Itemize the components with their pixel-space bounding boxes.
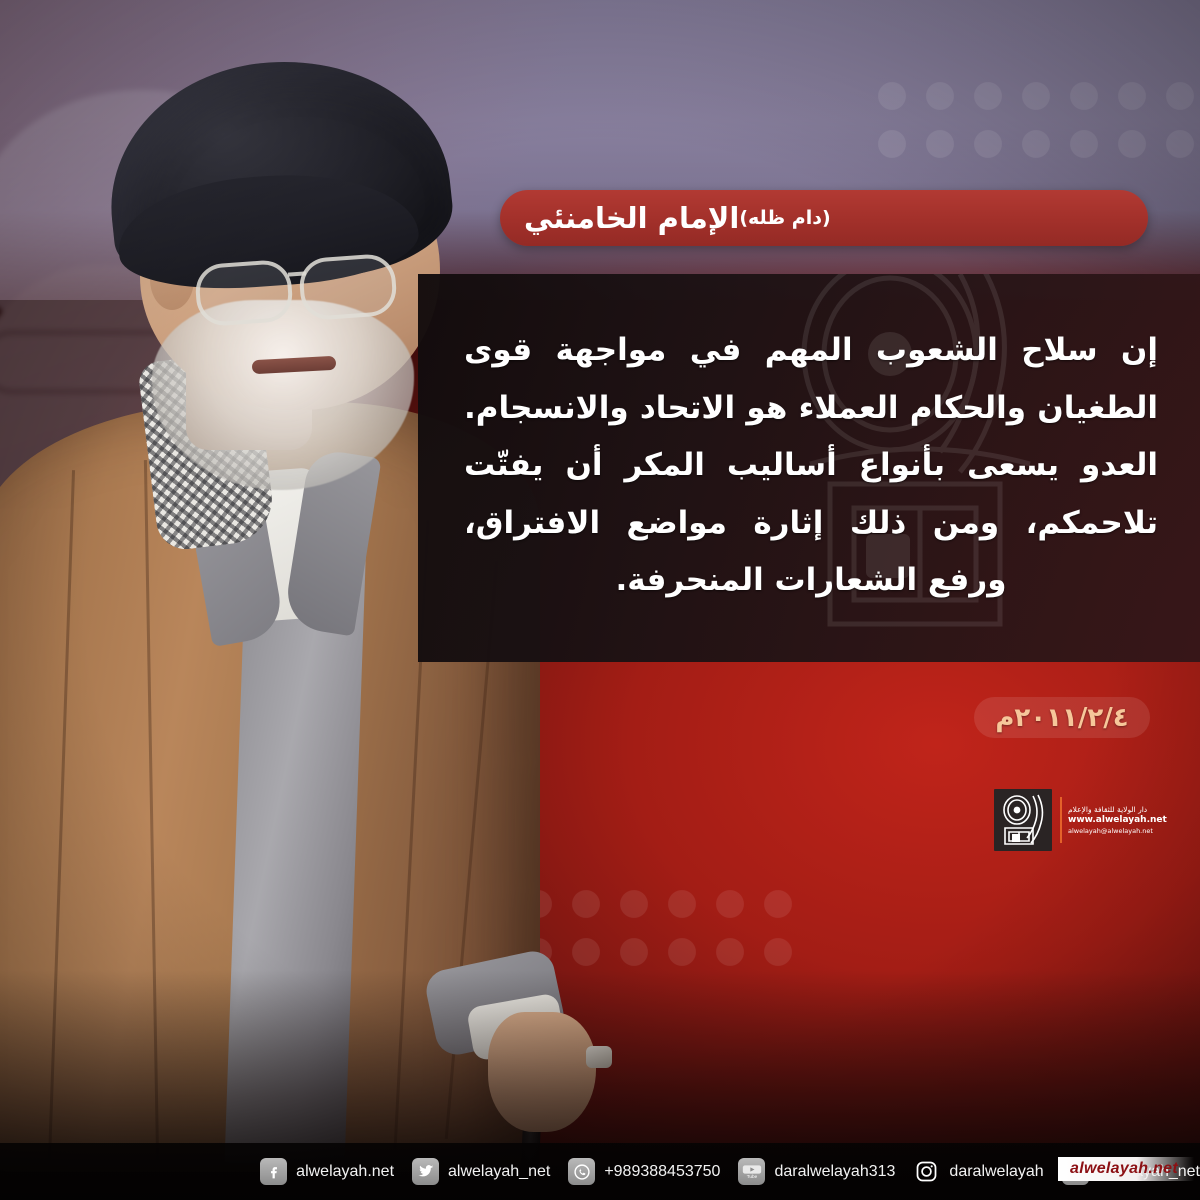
social-handle-whatsapp: +989388453750 — [604, 1163, 720, 1181]
speaker-title-honorific: (دام ظله) — [739, 209, 830, 228]
organization-website[interactable]: www.alwelayah.net — [1068, 815, 1167, 826]
organization-logo-block: دار الولاية للثقافة والإعلام www.alwelay… — [994, 786, 1152, 854]
social-link-facebook[interactable]: alwelayah.net — [260, 1158, 394, 1185]
social-link-youtube[interactable]: Tube daralwelayah313 — [738, 1158, 895, 1185]
social-handle-instagram: daralwelayah — [949, 1163, 1043, 1181]
footer-bar: alwelayah.net alwelayah_net +989388 — [0, 1143, 1200, 1200]
organization-emblem-icon — [994, 789, 1052, 851]
quote-date-badge: ٢٠١١/٢/٤م — [974, 697, 1150, 738]
organization-arabic-name: دار الولاية للثقافة والإعلام — [1068, 805, 1147, 814]
youtube-icon: Tube — [738, 1158, 765, 1185]
organization-email[interactable]: alwelayah@alwelayah.net — [1068, 827, 1153, 835]
social-link-twitter[interactable]: alwelayah_net — [412, 1158, 550, 1185]
site-url-badge[interactable]: alwelayah.net — [1058, 1157, 1194, 1181]
quote-panel: إن سلاح الشعوب المهم في مواجهة قوى الطغي… — [418, 274, 1200, 662]
organization-logo-texts: دار الولاية للثقافة والإعلام www.alwelay… — [1060, 797, 1167, 843]
poster-canvas: (دام ظله) الإمام الخامنئي إن سلاح الشعوب… — [0, 0, 1200, 1200]
instagram-icon — [913, 1158, 940, 1185]
social-link-instagram[interactable]: daralwelayah — [913, 1158, 1043, 1185]
speaker-title-badge: (دام ظله) الإمام الخامنئي — [500, 190, 1148, 246]
social-handle-facebook: alwelayah.net — [296, 1163, 394, 1181]
quote-text: إن سلاح الشعوب المهم في مواجهة قوى الطغي… — [418, 274, 1200, 662]
svg-text:Tube: Tube — [747, 1174, 758, 1179]
social-link-whatsapp[interactable]: +989388453750 — [568, 1158, 720, 1185]
social-handle-twitter: alwelayah_net — [448, 1163, 550, 1181]
twitter-icon — [412, 1158, 439, 1185]
whatsapp-icon — [568, 1158, 595, 1185]
facebook-icon — [260, 1158, 287, 1185]
speaker-title-name: الإمام الخامنئي — [524, 204, 739, 233]
social-handle-youtube: daralwelayah313 — [774, 1163, 895, 1181]
